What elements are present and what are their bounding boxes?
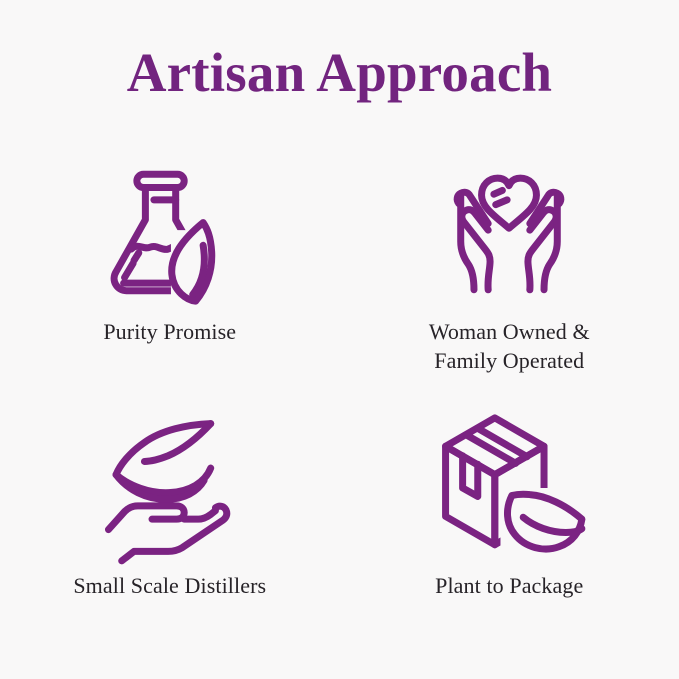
artisan-approach-poster: Artisan Approach	[0, 0, 679, 679]
feature-card-plant-to-package: Plant to Package	[340, 400, 679, 650]
box-with-leaf-icon	[429, 412, 589, 562]
page-title: Artisan Approach	[0, 44, 679, 102]
feature-label: Small Scale Distillers	[73, 572, 266, 601]
feature-card-woman-owned: Woman Owned & Family Operated	[340, 150, 679, 400]
hand-holding-leaf-icon	[90, 412, 250, 562]
feature-label: Purity Promise	[103, 318, 236, 347]
flask-with-leaf-icon	[90, 158, 250, 308]
feature-grid: Purity Promise	[0, 150, 679, 650]
feature-label: Plant to Package	[435, 572, 583, 601]
hands-holding-heart-icon	[429, 158, 589, 308]
feature-card-small-scale-distillers: Small Scale Distillers	[0, 400, 340, 650]
feature-label: Woman Owned & Family Operated	[429, 318, 590, 375]
feature-card-purity-promise: Purity Promise	[0, 150, 340, 400]
